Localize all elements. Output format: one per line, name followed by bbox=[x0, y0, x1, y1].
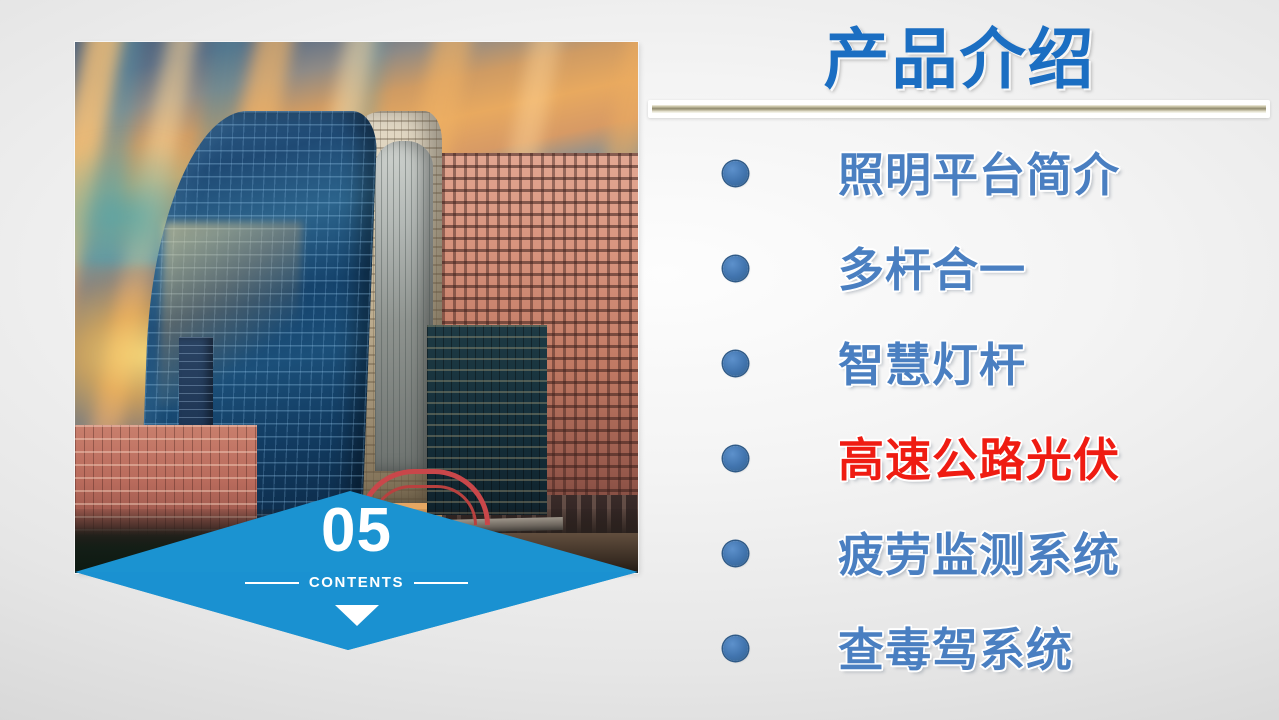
contents-label: CONTENTS bbox=[309, 574, 404, 591]
list-item[interactable]: 疲劳监测系统 bbox=[640, 523, 1279, 618]
contents-banner-text: 05 CONTENTS bbox=[75, 492, 638, 626]
building-light-tower bbox=[375, 141, 433, 471]
list-item-label: 照明平台简介 bbox=[838, 139, 1120, 205]
contents-number: 05 bbox=[75, 500, 638, 562]
list-item[interactable]: 查毒驾系统 bbox=[640, 618, 1279, 713]
list-item[interactable]: 智慧灯杆 bbox=[640, 333, 1279, 428]
bullet-dot-icon bbox=[723, 446, 748, 471]
agenda-list: 照明平台简介 多杆合一 智慧灯杆 高速公路光伏 疲劳监测系统 查毒驾系统 bbox=[640, 143, 1279, 713]
list-item-highlighted[interactable]: 高速公路光伏 bbox=[640, 428, 1279, 523]
title-divider-bevel bbox=[652, 104, 1266, 114]
bullet-dot-icon bbox=[723, 256, 748, 281]
bullet-dot-icon bbox=[723, 351, 748, 376]
list-item-label: 高速公路光伏 bbox=[838, 424, 1120, 490]
list-item-label: 疲劳监测系统 bbox=[838, 519, 1120, 585]
bullet-dot-icon bbox=[723, 541, 748, 566]
rule-right bbox=[414, 582, 468, 584]
rule-left bbox=[245, 582, 299, 584]
page-title: 产品介绍 bbox=[640, 6, 1279, 102]
presentation-slide: 05 CONTENTS 产品介绍 照明平台简介 多杆合一 智慧灯杆 bbox=[0, 0, 1279, 720]
list-item-label: 查毒驾系统 bbox=[838, 614, 1073, 680]
caret-down-icon bbox=[335, 605, 379, 626]
list-item[interactable]: 照明平台简介 bbox=[640, 143, 1279, 238]
title-divider bbox=[648, 100, 1270, 118]
list-item-label: 智慧灯杆 bbox=[838, 329, 1026, 395]
content-column: 产品介绍 照明平台简介 多杆合一 智慧灯杆 高速公路光伏 bbox=[640, 0, 1279, 720]
bullet-dot-icon bbox=[723, 636, 748, 661]
bullet-dot-icon bbox=[723, 161, 748, 186]
list-item-label: 多杆合一 bbox=[838, 234, 1026, 300]
contents-label-row: CONTENTS bbox=[75, 574, 638, 591]
list-item[interactable]: 多杆合一 bbox=[640, 238, 1279, 333]
